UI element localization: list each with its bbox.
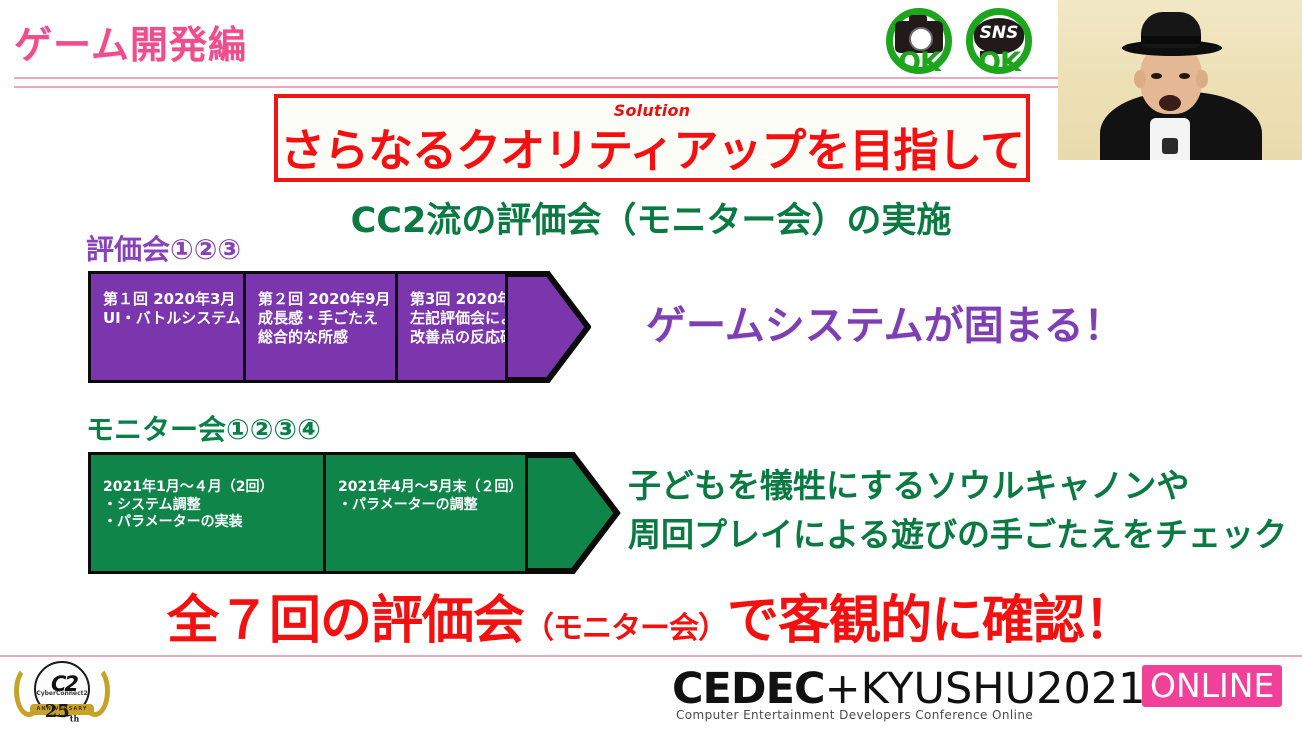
- flow-monitor-kai: 2021年1月～４月（2回） ・システム調整 ・パラメーターの実装 2021年4…: [88, 452, 620, 574]
- cell-line: 第3回 2020年12月: [410, 290, 500, 309]
- cell-line: 第１回 2020年3月: [103, 290, 235, 309]
- cell-line: 左記評価会による: [410, 309, 500, 328]
- cc2-company-name: CyberConnect2: [8, 690, 116, 697]
- flow-arrow-head: [505, 271, 591, 383]
- conclusion-text: 全７回の評価会（モニター会）で客観的に確認！: [0, 578, 1302, 653]
- solution-headline: さらなるクオリティアップを目指して: [278, 114, 1026, 179]
- cell-line: ・システム調整: [103, 497, 315, 515]
- cell-line: 2021年4月～5月末（２回）: [338, 479, 517, 497]
- callout-line: ゲームシステムが固まる！: [646, 303, 1124, 349]
- page-title: ゲーム開発編: [14, 14, 247, 69]
- cell-line: 第２回 2020年9月: [258, 290, 387, 309]
- sns-ok-badge: SNS OK: [966, 8, 1032, 74]
- section-label-hyoukakai: 評価会①②③: [86, 228, 241, 268]
- cedec-subtitle: Computer Entertainment Developers Confer…: [676, 708, 1033, 722]
- camera-ok-badge: OK: [886, 8, 952, 74]
- cc2-anniversary-suffix: th: [70, 714, 80, 724]
- cell-line: 改善点の反応確認: [410, 328, 500, 347]
- cedec-online-badge: ONLINE: [1142, 665, 1282, 707]
- presenter-ear-right: [1196, 70, 1208, 88]
- webcam-overlay: [1058, 0, 1302, 160]
- solution-banner: Solution さらなるクオリティアップを目指して: [274, 94, 1030, 182]
- callout-line: 周回プレイによる遊びの手ごたえをチェック: [628, 514, 1287, 557]
- cell-line: ・パラメーターの実装: [103, 514, 315, 532]
- presenter-eye-right: [1179, 73, 1190, 79]
- cell-line: 成長感・手ごたえ: [258, 309, 387, 328]
- callout-monitor-kai: 子どもを犠牲にするソウルキャノンや 周回プレイによる遊びの手ごたえをチェック: [628, 465, 1287, 557]
- sns-bubble-label: SNS: [974, 25, 1024, 42]
- footer-divider: [0, 655, 1302, 657]
- flow-cell: 2021年4月～5月末（２回） ・パラメーターの調整: [326, 455, 528, 571]
- presenter-hat-band: [1141, 36, 1201, 44]
- flow-cell: 第１回 2020年3月 UI・バトルシステム: [91, 274, 246, 380]
- flow-body: 第１回 2020年3月 UI・バトルシステム 第２回 2020年9月 成長感・手…: [88, 271, 508, 383]
- cedec-kyushu-logo: CEDEC+KYUSHU2021 ONLINE Computer Enterta…: [672, 664, 1282, 726]
- slide-root: ゲーム開発編 OK SNS OK Solution さらな: [0, 0, 1302, 732]
- conclusion-part-2: （モニター会）: [524, 611, 727, 646]
- flow-cell: 第3回 2020年12月 左記評価会による 改善点の反応確認: [398, 274, 511, 380]
- flow-body: 2021年1月～４月（2回） ・システム調整 ・パラメーターの実装 2021年4…: [88, 452, 528, 574]
- flow-arrow-head: [525, 452, 621, 574]
- conclusion-part-3: で客観的に確認！: [727, 591, 1135, 651]
- cell-line: 2021年1月～４月（2回）: [103, 479, 315, 497]
- cc2-anniversary: 25th: [8, 701, 116, 724]
- callout-line: 子どもを犠牲にするソウルキャノンや: [628, 466, 1189, 505]
- presenter-shirt: [1150, 118, 1190, 160]
- cedec-bold-part: CEDEC: [672, 664, 825, 714]
- cell-line: UI・バトルシステム: [103, 309, 235, 328]
- cyberconnect2-logo: C2 CyberConnect2 ANNIVERSARY 25th: [8, 657, 116, 729]
- camera-ok-label: OK: [886, 49, 952, 76]
- cedec-wordmark: CEDEC+KYUSHU2021: [672, 664, 1146, 714]
- cc2-anniversary-number: 25: [45, 701, 70, 722]
- sns-ok-label: OK: [966, 49, 1032, 76]
- presenter-eye-left: [1151, 73, 1162, 79]
- flow-hyoukakai: 第１回 2020年3月 UI・バトルシステム 第２回 2020年9月 成長感・手…: [88, 271, 592, 383]
- flow-cell: 2021年1月～４月（2回） ・システム調整 ・パラメーターの実装: [91, 455, 326, 571]
- cell-line: 総合的な所感: [258, 328, 387, 347]
- section-label-monitor-kai: モニター会①②③④: [86, 408, 321, 448]
- callout-hyoukakai: ゲームシステムが固まる！: [646, 300, 1124, 352]
- conclusion-part-1: 全７回の評価会: [167, 591, 524, 651]
- flow-cell: 第２回 2020年9月 成長感・手ごたえ 総合的な所感: [246, 274, 398, 380]
- permission-badges: OK SNS OK: [886, 6, 1046, 78]
- cedec-plus-part: +KYUSHU2021: [825, 664, 1146, 714]
- presenter-mouth: [1159, 95, 1181, 111]
- cell-line: ・パラメーターの調整: [338, 497, 517, 515]
- presenter-ear-left: [1134, 70, 1146, 88]
